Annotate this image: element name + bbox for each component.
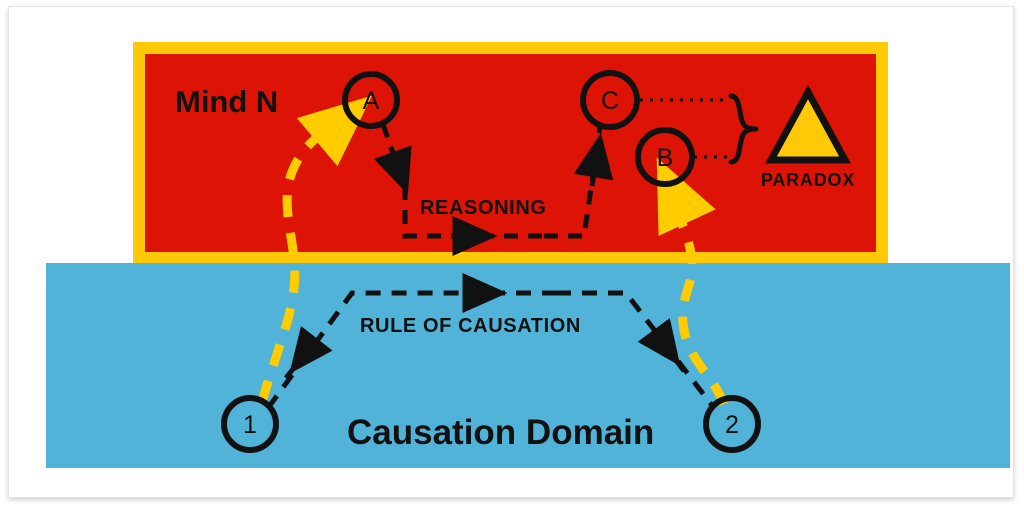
reasoning-label: REASONING: [420, 197, 547, 219]
diagram-canvas: Mind N Causation Domain RULE OF CAUSATIO…: [0, 0, 1024, 510]
node-B-label: B: [657, 144, 674, 172]
mind-panel-label: Mind N: [175, 84, 278, 119]
node-C-label: C: [601, 87, 619, 115]
node-1-label: 1: [243, 411, 257, 439]
rule-of-causation-label: RULE OF CAUSATION: [360, 315, 581, 337]
node-2-label: 2: [725, 411, 739, 439]
causation-panel-label: Causation Domain: [347, 413, 654, 452]
node-A-label: A: [363, 87, 380, 115]
concept-diagram: Mind N Causation Domain RULE OF CAUSATIO…: [0, 0, 1024, 510]
paradox-label: PARADOX: [761, 170, 855, 190]
